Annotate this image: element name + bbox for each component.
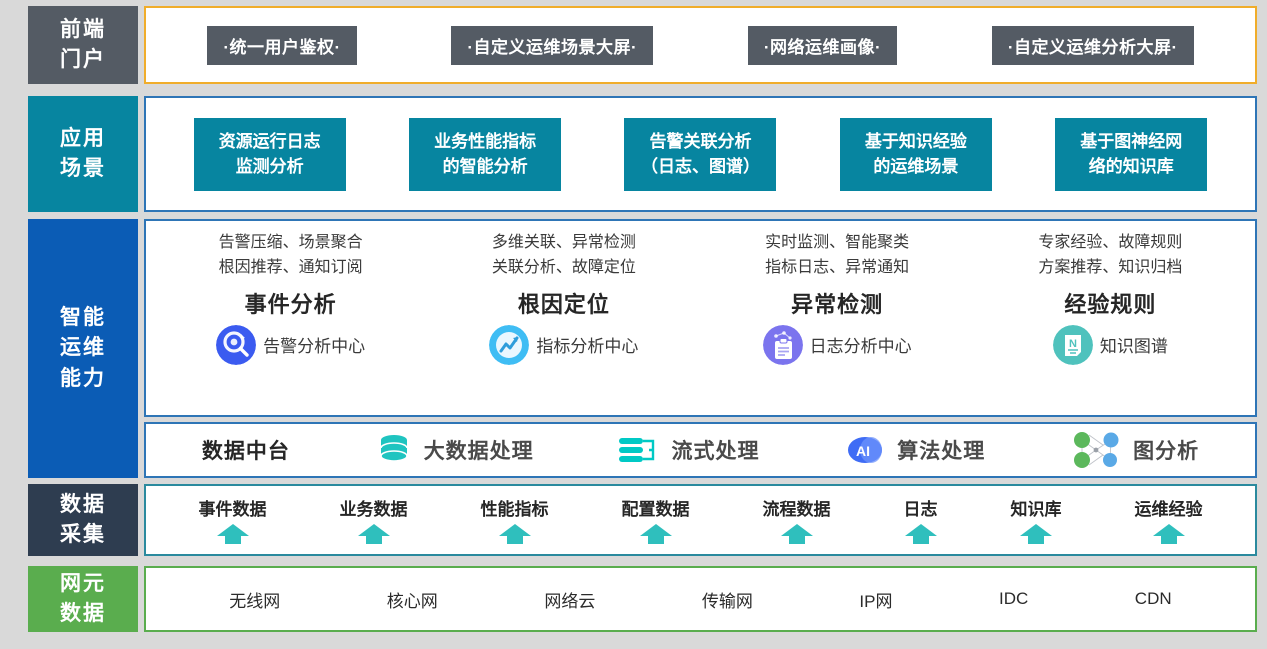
capability-bullet: 多维关联、异常检测 <box>492 231 636 256</box>
network-item-5[interactable]: IP网 <box>859 587 892 612</box>
graph-network-icon <box>1069 429 1123 471</box>
collection-item-3[interactable]: 性能指标 <box>481 495 549 545</box>
layer-aiops: 智能 运维 能力 告警压缩、场景聚合 根因推荐、通知订阅 事件分析 <box>0 219 1267 478</box>
aiops-stack: 告警压缩、场景聚合 根因推荐、通知订阅 事件分析 告警分析中心 <box>144 219 1257 478</box>
up-arrow-icon <box>1152 523 1186 545</box>
scenario-card-2[interactable]: 业务性能指标 的智能分析 <box>409 118 561 191</box>
scenario-card-5[interactable]: 基于图神经网 络的知识库 <box>1055 118 1207 191</box>
scenario-line: 告警关联分析 <box>638 129 762 155</box>
up-arrow-icon <box>1019 523 1053 545</box>
data-platform-strip: 数据中台 大数据处理 <box>144 422 1257 478</box>
layer-label-line: 前端 <box>60 15 106 45</box>
layer-label-line: 应用 <box>60 124 106 154</box>
capability-bullet: 指标日志、异常通知 <box>765 256 909 281</box>
svg-text:AI: AI <box>856 443 870 459</box>
collection-item-1[interactable]: 事件数据 <box>199 495 267 545</box>
capability-name: 事件分析 <box>245 287 337 319</box>
network-item-3[interactable]: 网络云 <box>544 587 595 612</box>
capability-card-root-cause[interactable]: 多维关联、异常检测 关联分析、故障定位 根因定位 指标分析中心 <box>464 231 664 409</box>
capability-center-label: 告警分析中心 <box>263 332 365 357</box>
data-platform-item-bigdata[interactable]: 大数据处理 <box>374 432 534 468</box>
scenario-line: 的运维场景 <box>854 154 978 180</box>
portal-item-1[interactable]: ·统一用户鉴权· <box>207 26 356 65</box>
network-item-2[interactable]: 核心网 <box>387 587 438 612</box>
data-platform-title: 数据中台 <box>202 435 290 465</box>
up-arrow-icon <box>639 523 673 545</box>
layer-network: 网元 数据 无线网 核心网 网络云 传输网 IP网 IDC CDN <box>0 566 1267 632</box>
data-platform-item-label: 流式处理 <box>671 435 759 465</box>
network-item-1[interactable]: 无线网 <box>229 587 280 612</box>
collection-item-6[interactable]: 日志 <box>904 495 938 545</box>
capability-center-label: 日志分析中心 <box>810 332 912 357</box>
scenarios-panel: 资源运行日志 监测分析 业务性能指标 的智能分析 告警关联分析 （日志、图谱） … <box>144 96 1257 212</box>
layer-label-line: 数据 <box>60 490 106 520</box>
database-icon <box>374 432 414 468</box>
collection-item-5[interactable]: 流程数据 <box>763 495 831 545</box>
layer-label-portal: 前端 门户 <box>28 6 138 84</box>
collection-item-2[interactable]: 业务数据 <box>340 495 408 545</box>
layer-label-line: 智能 <box>60 303 106 333</box>
collection-item-label: 日志 <box>904 495 938 520</box>
collection-panel: 事件数据 业务数据 性能指标 配置数据 流程数据 日志 <box>144 484 1257 556</box>
network-item-6[interactable]: IDC <box>999 589 1028 609</box>
up-arrow-icon <box>904 523 938 545</box>
network-item-7[interactable]: CDN <box>1135 589 1172 609</box>
data-platform-item-label: 大数据处理 <box>424 435 534 465</box>
collection-item-4[interactable]: 配置数据 <box>622 495 690 545</box>
capability-bullet: 告警压缩、场景聚合 <box>219 231 363 256</box>
layer-label-line: 采集 <box>60 520 106 550</box>
collection-item-label: 知识库 <box>1011 495 1062 520</box>
collection-item-label: 流程数据 <box>763 495 831 520</box>
layer-label-line: 场景 <box>60 154 106 184</box>
network-item-4[interactable]: 传输网 <box>702 587 753 612</box>
scenario-card-3[interactable]: 告警关联分析 （日志、图谱） <box>624 118 776 191</box>
data-platform-item-graph[interactable]: 图分析 <box>1069 429 1199 471</box>
capability-card-event-analysis[interactable]: 告警压缩、场景聚合 根因推荐、通知订阅 事件分析 告警分析中心 <box>191 231 391 409</box>
layer-label-line: 网元 <box>60 569 106 599</box>
layer-label-scenarios: 应用 场景 <box>28 96 138 212</box>
capability-bullet: 方案推荐、知识归档 <box>1038 256 1182 281</box>
data-platform-item-algorithm[interactable]: AI 算法处理 <box>843 431 985 469</box>
layer-label-line: 能力 <box>60 364 106 394</box>
scenario-card-4[interactable]: 基于知识经验 的运维场景 <box>840 118 992 191</box>
layer-label-network: 网元 数据 <box>28 566 138 632</box>
architecture-diagram: 前端 门户 ·统一用户鉴权· ·自定义运维场景大屏· ·网络运维画像· ·自定义… <box>0 0 1267 649</box>
ai-icon: AI <box>843 431 887 469</box>
capability-center[interactable]: 指标分析中心 <box>489 325 638 365</box>
data-platform-item-label: 图分析 <box>1133 435 1199 465</box>
collection-item-label: 运维经验 <box>1135 495 1203 520</box>
trend-chart-icon <box>489 325 529 365</box>
scenario-line: 基于知识经验 <box>854 129 978 155</box>
collection-item-7[interactable]: 知识库 <box>1011 495 1062 545</box>
stream-icon <box>617 432 661 468</box>
capability-name: 经验规则 <box>1064 287 1156 319</box>
scenario-card-1[interactable]: 资源运行日志 监测分析 <box>194 118 346 191</box>
collection-item-8[interactable]: 运维经验 <box>1135 495 1203 545</box>
capability-bullet: 实时监测、智能聚类 <box>765 231 909 256</box>
capability-center-label: 知识图谱 <box>1100 332 1168 357</box>
collection-item-label: 性能指标 <box>481 495 549 520</box>
portal-item-3[interactable]: ·网络运维画像· <box>748 26 897 65</box>
layer-label-line: 数据 <box>60 599 106 629</box>
capability-center[interactable]: N 知识图谱 <box>1053 325 1168 365</box>
capability-card-anomaly-detection[interactable]: 实时监测、智能聚类 指标日志、异常通知 异常检测 <box>737 231 937 409</box>
scenario-line: 业务性能指标 <box>423 129 547 155</box>
layer-collection: 数据 采集 事件数据 业务数据 性能指标 配置数据 流程数据 <box>0 484 1267 556</box>
clipboard-log-icon <box>763 325 803 365</box>
svg-text:N: N <box>1069 338 1077 350</box>
up-arrow-icon <box>357 523 391 545</box>
layer-label-collection: 数据 采集 <box>28 484 138 556</box>
up-arrow-icon <box>216 523 250 545</box>
capability-bullet: 关联分析、故障定位 <box>492 256 636 281</box>
capability-center[interactable]: 日志分析中心 <box>763 325 912 365</box>
aiops-capability-panel: 告警压缩、场景聚合 根因推荐、通知订阅 事件分析 告警分析中心 <box>144 219 1257 417</box>
data-platform-item-stream[interactable]: 流式处理 <box>617 432 759 468</box>
capability-center-label: 指标分析中心 <box>536 332 638 357</box>
scenario-line: 络的知识库 <box>1069 154 1193 180</box>
portal-item-2[interactable]: ·自定义运维场景大屏· <box>451 26 653 65</box>
up-arrow-icon <box>498 523 532 545</box>
layer-label-aiops: 智能 运维 能力 <box>28 219 138 478</box>
capability-center[interactable]: 告警分析中心 <box>216 325 365 365</box>
knowledge-doc-icon: N <box>1053 325 1093 365</box>
portal-panel: ·统一用户鉴权· ·自定义运维场景大屏· ·网络运维画像· ·自定义运维分析大屏… <box>144 6 1257 84</box>
layer-portal: 前端 门户 ·统一用户鉴权· ·自定义运维场景大屏· ·网络运维画像· ·自定义… <box>0 6 1267 84</box>
scenario-line: 资源运行日志 <box>208 129 332 155</box>
data-platform-item-label: 算法处理 <box>897 435 985 465</box>
scenario-line: 的智能分析 <box>423 154 547 180</box>
layer-label-line: 门户 <box>60 45 106 75</box>
collection-item-label: 配置数据 <box>622 495 690 520</box>
scenario-line: 监测分析 <box>208 154 332 180</box>
capability-bullet: 根因推荐、通知订阅 <box>219 256 363 281</box>
portal-item-4[interactable]: ·自定义运维分析大屏· <box>992 26 1194 65</box>
capability-bullet: 专家经验、故障规则 <box>1038 231 1182 256</box>
collection-item-label: 业务数据 <box>340 495 408 520</box>
collection-item-label: 事件数据 <box>199 495 267 520</box>
network-panel: 无线网 核心网 网络云 传输网 IP网 IDC CDN <box>144 566 1257 632</box>
alarm-search-icon <box>216 325 256 365</box>
layer-scenarios: 应用 场景 资源运行日志 监测分析 业务性能指标 的智能分析 告警关联分析 （日… <box>0 96 1267 212</box>
capability-name: 根因定位 <box>518 287 610 319</box>
capability-card-experience-rules[interactable]: 专家经验、故障规则 方案推荐、知识归档 经验规则 N 知识图谱 <box>1010 231 1210 409</box>
scenario-line: （日志、图谱） <box>638 154 762 180</box>
layer-label-line: 运维 <box>60 333 106 363</box>
up-arrow-icon <box>780 523 814 545</box>
capability-name: 异常检测 <box>791 287 883 319</box>
scenario-line: 基于图神经网 <box>1069 129 1193 155</box>
